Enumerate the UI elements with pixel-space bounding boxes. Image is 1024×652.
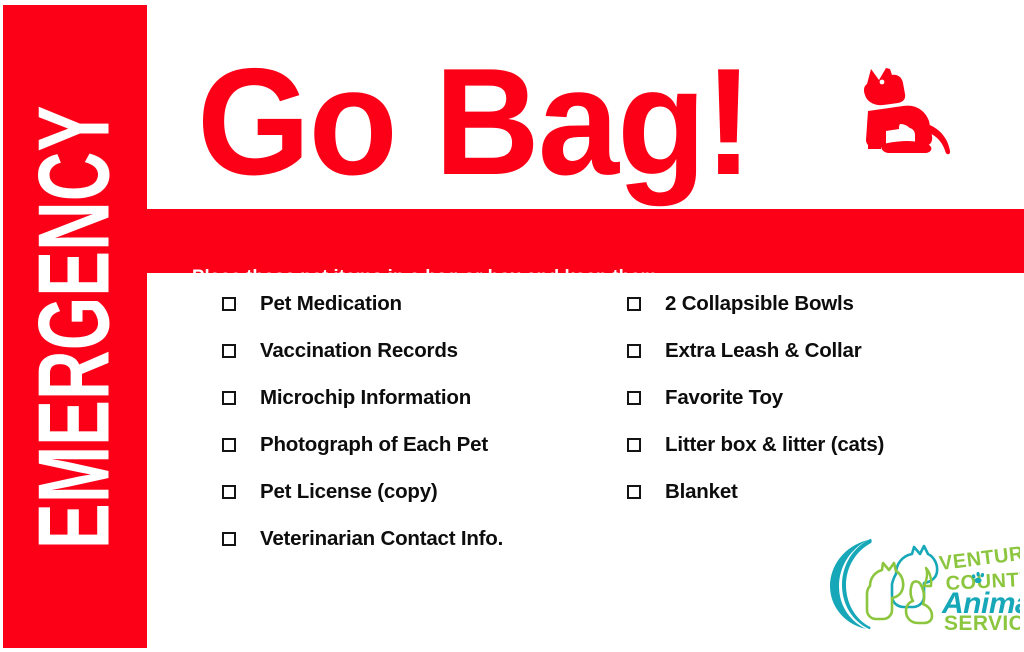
list-item[interactable]: Pet Medication: [222, 280, 602, 327]
list-item-label: Microchip Information: [260, 386, 471, 410]
list-item[interactable]: Vaccination Records: [222, 327, 602, 374]
list-item-label: Vaccination Records: [260, 339, 458, 363]
checkbox-icon[interactable]: [222, 438, 236, 452]
list-item[interactable]: Veterinarian Contact Info.: [222, 515, 602, 562]
list-item[interactable]: Extra Leash & Collar: [627, 327, 1017, 374]
list-item[interactable]: Favorite Toy: [627, 374, 1017, 421]
checkbox-icon[interactable]: [222, 532, 236, 546]
list-item[interactable]: Blanket: [627, 468, 1017, 515]
emergency-side-bar: EMERGENCY: [3, 5, 147, 648]
checkbox-icon[interactable]: [627, 344, 641, 358]
checkbox-icon[interactable]: [222, 344, 236, 358]
sitting-dog-silhouette-icon: [853, 58, 963, 166]
list-item-label: Litter box & litter (cats): [665, 433, 884, 457]
checkbox-icon[interactable]: [222, 391, 236, 405]
header: Go Bag!: [147, 44, 1024, 204]
ventura-county-animal-services-logo: VENTURA COUNTY Animal SERVICES: [824, 534, 1020, 634]
emergency-side-bar-label: EMERGENCY: [27, 105, 123, 548]
checkbox-icon[interactable]: [627, 391, 641, 405]
list-item[interactable]: Litter box & litter (cats): [627, 421, 1017, 468]
checklist-column-right: 2 Collapsible Bowls Extra Leash & Collar…: [627, 280, 1017, 515]
list-item-label: Pet License (copy): [260, 480, 438, 504]
checkbox-icon[interactable]: [222, 485, 236, 499]
list-item-label: Photograph of Each Pet: [260, 433, 488, 457]
list-item-label: Pet Medication: [260, 292, 402, 316]
page-title: Go Bag!: [197, 42, 751, 202]
list-item[interactable]: Microchip Information: [222, 374, 602, 421]
list-item[interactable]: 2 Collapsible Bowls: [627, 280, 1017, 327]
checkbox-icon[interactable]: [627, 438, 641, 452]
emergency-side-bar-rotator: EMERGENCY: [3, 5, 147, 648]
list-item[interactable]: Pet License (copy): [222, 468, 602, 515]
list-item-label: 2 Collapsible Bowls: [665, 292, 854, 316]
checkbox-icon[interactable]: [627, 485, 641, 499]
instruction-banner: Place these pet items in a bag or box an…: [147, 209, 1024, 273]
list-item-label: Veterinarian Contact Info.: [260, 527, 503, 551]
checklist-column-left: Pet Medication Vaccination Records Micro…: [222, 280, 602, 562]
checkbox-icon[interactable]: [627, 297, 641, 311]
list-item-label: Blanket: [665, 480, 738, 504]
logo-line-services: SERVICES: [944, 612, 1020, 634]
crescent-dog-cat-rabbit-mark: [830, 539, 937, 629]
list-item[interactable]: Photograph of Each Pet: [222, 421, 602, 468]
checkbox-icon[interactable]: [222, 297, 236, 311]
list-item-label: Favorite Toy: [665, 386, 783, 410]
list-item-label: Extra Leash & Collar: [665, 339, 862, 363]
